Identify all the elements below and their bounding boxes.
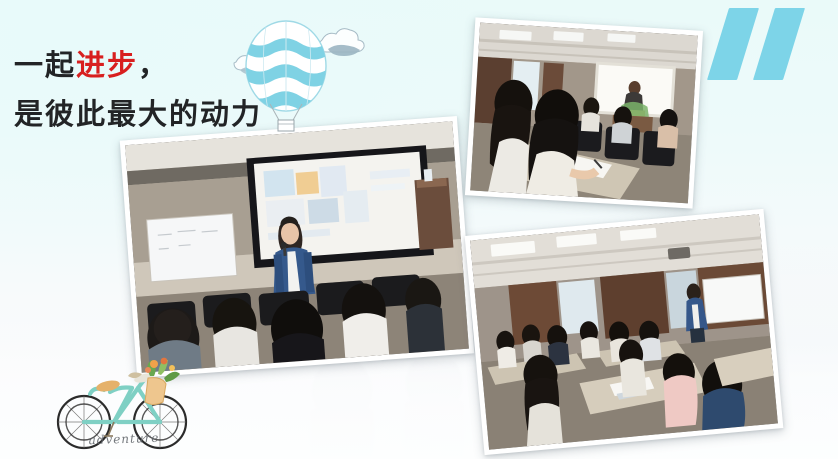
photo-presenter-screen[interactable] (120, 116, 475, 378)
photo-training-room-wide[interactable] (465, 209, 784, 455)
headline-line-2: 是彼此最大的动力 (14, 94, 344, 135)
quote-bar-left (707, 8, 759, 80)
slide-canvas: 一起进步， 是彼此最大的动力 (0, 0, 838, 459)
photo-presenter-screen-image (125, 121, 469, 372)
photo-training-room-wide-image (470, 214, 778, 449)
page-title: 一起进步， 是彼此最大的动力 (14, 45, 344, 135)
quote-bar-right (753, 8, 805, 80)
headline-highlight: 进步 (76, 48, 138, 82)
photo-attendees-notes[interactable] (465, 17, 703, 208)
headline-text-part1: 一起 (14, 48, 76, 82)
headline-line-1: 一起进步， (14, 45, 344, 86)
quote-mark-icon (708, 8, 816, 80)
photo-attendees-notes-image (470, 23, 698, 204)
headline-comma: ， (138, 48, 169, 82)
